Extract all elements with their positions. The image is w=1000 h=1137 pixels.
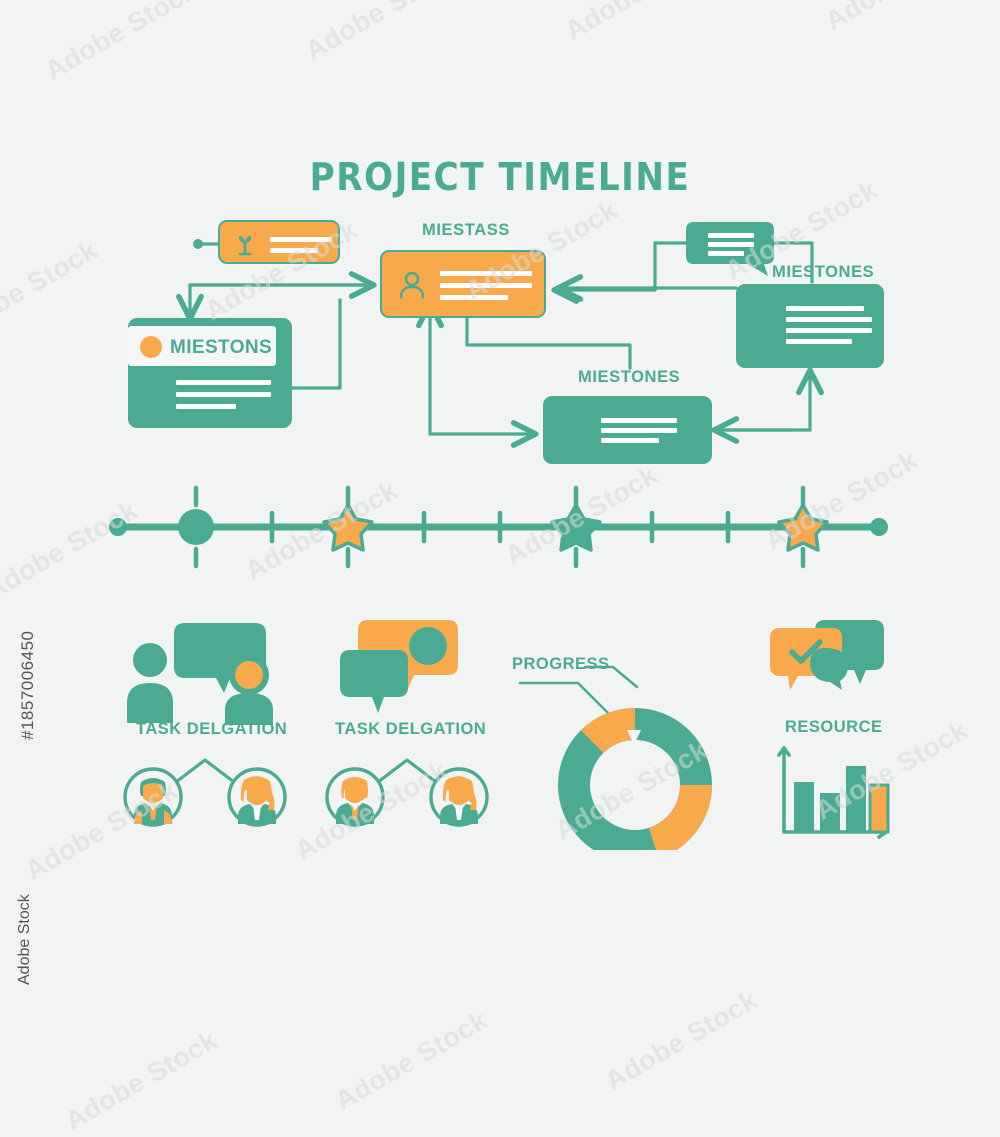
timeline-star-1 — [324, 505, 372, 550]
label-task-delegation-2: TASK DELGATION — [335, 720, 486, 739]
watermark-text: Adobe Stock — [60, 1025, 223, 1137]
label-progress: PROGRESS — [512, 655, 610, 674]
bar-2 — [820, 793, 840, 832]
card-label-miestones-bottom: MIESTONES — [578, 368, 680, 387]
panel-resource-icon — [770, 618, 890, 698]
stock-id-label: #1857006450 — [18, 630, 38, 740]
timeline-dot-start — [109, 518, 127, 536]
watermark-text: Adobe Stock — [600, 985, 763, 1097]
timeline-milestone-circle — [178, 509, 214, 545]
card-label-miestass: MIESTASS — [422, 221, 510, 240]
timeline-star-2 — [552, 505, 600, 550]
donut-chart-icon[interactable] — [500, 650, 760, 850]
avatars-group-2[interactable] — [312, 748, 502, 848]
infographic-canvas: Adobe Stock Adobe Stock Adobe Stock Adob… — [0, 0, 1000, 1000]
avatar-female — [229, 769, 285, 825]
avatars-group-1[interactable] — [110, 748, 300, 848]
watermark-text: Adobe Stock — [330, 1005, 493, 1117]
timeline-dot-end — [870, 518, 888, 536]
timeline-star-3 — [779, 505, 827, 550]
bar-4 — [870, 785, 888, 832]
speech-bubbles-icon — [340, 615, 470, 720]
chat-check-icon — [770, 618, 890, 698]
avatar-male — [125, 769, 181, 825]
bar-chart-icon[interactable] — [768, 740, 898, 845]
panel-task-delegation-2 — [340, 615, 470, 720]
label-resource: RESOURCE — [785, 718, 883, 737]
footer-label: Adobe Stock — [16, 894, 34, 985]
bar-3 — [846, 766, 866, 832]
bar-1 — [794, 782, 814, 832]
label-task-delegation-1: TASK DELGATION — [136, 720, 287, 739]
card-label-miestones-right: MIESTONES — [772, 263, 874, 282]
people-speech-icon — [120, 615, 290, 725]
panel-task-delegation-1 — [120, 615, 290, 725]
avatar-male — [327, 769, 383, 825]
timeline[interactable] — [0, 0, 1000, 1000]
avatar-female — [431, 769, 487, 825]
